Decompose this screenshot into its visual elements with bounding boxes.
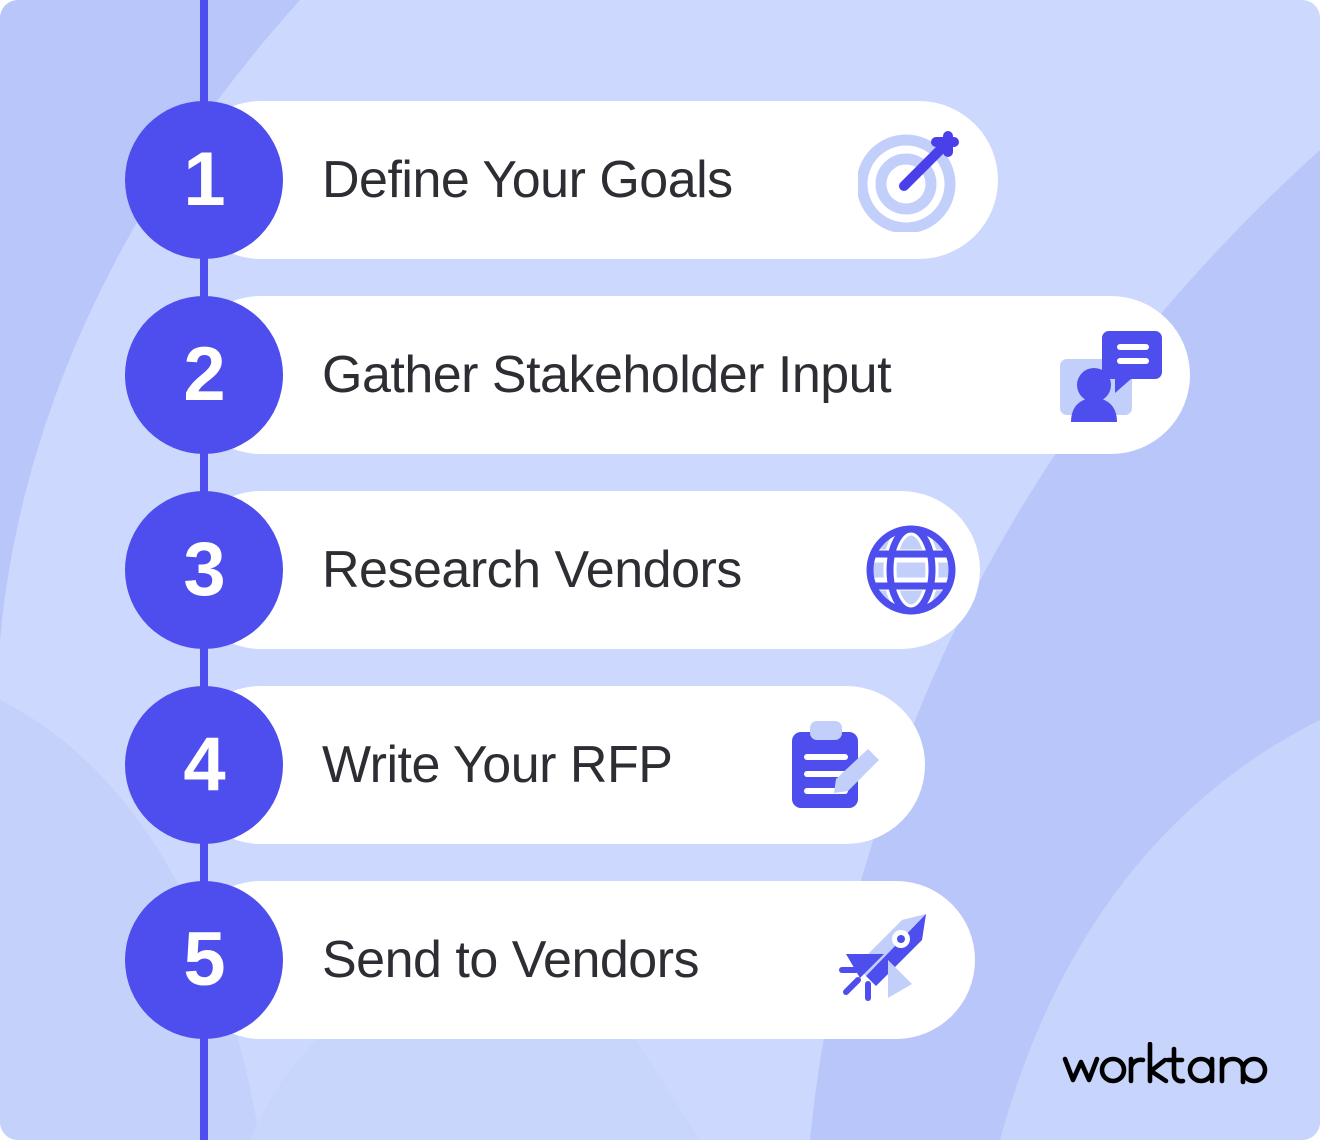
step-label-2: Gather Stakeholder Input	[322, 296, 891, 454]
step-row-3[interactable]: 3 Research Vendors	[0, 491, 1320, 649]
step-circle-1: 1	[125, 101, 283, 259]
step-number-2: 2	[183, 337, 224, 413]
target-icon	[850, 101, 970, 259]
step-circle-4: 4	[125, 686, 283, 844]
step-row-5[interactable]: 5 Send to Vendors	[0, 881, 1320, 1039]
step-row-1[interactable]: 1 Define Your Goals	[0, 101, 1320, 259]
step-number-5: 5	[183, 922, 224, 998]
step-row-2[interactable]: 2 Gather Stakeholder Input	[0, 296, 1320, 454]
step-circle-2: 2	[125, 296, 283, 454]
worktango-wordmark	[1062, 1042, 1268, 1088]
step-number-3: 3	[183, 532, 224, 608]
stakeholder-feedback-icon	[1048, 296, 1168, 454]
step-label-5: Send to Vendors	[322, 881, 699, 1039]
globe-icon	[856, 491, 966, 649]
clipboard-pencil-icon	[772, 686, 892, 844]
rocket-icon	[822, 881, 942, 1039]
step-row-4[interactable]: 4 Write Your RFP	[0, 686, 1320, 844]
infographic-canvas: 1 Define Your Goals 2 Gather Stakeholder…	[0, 0, 1320, 1140]
step-label-4: Write Your RFP	[322, 686, 672, 844]
step-number-4: 4	[183, 727, 224, 803]
step-label-1: Define Your Goals	[322, 101, 733, 259]
step-circle-5: 5	[125, 881, 283, 1039]
step-circle-3: 3	[125, 491, 283, 649]
step-number-1: 1	[183, 142, 224, 218]
step-label-3: Research Vendors	[322, 491, 742, 649]
